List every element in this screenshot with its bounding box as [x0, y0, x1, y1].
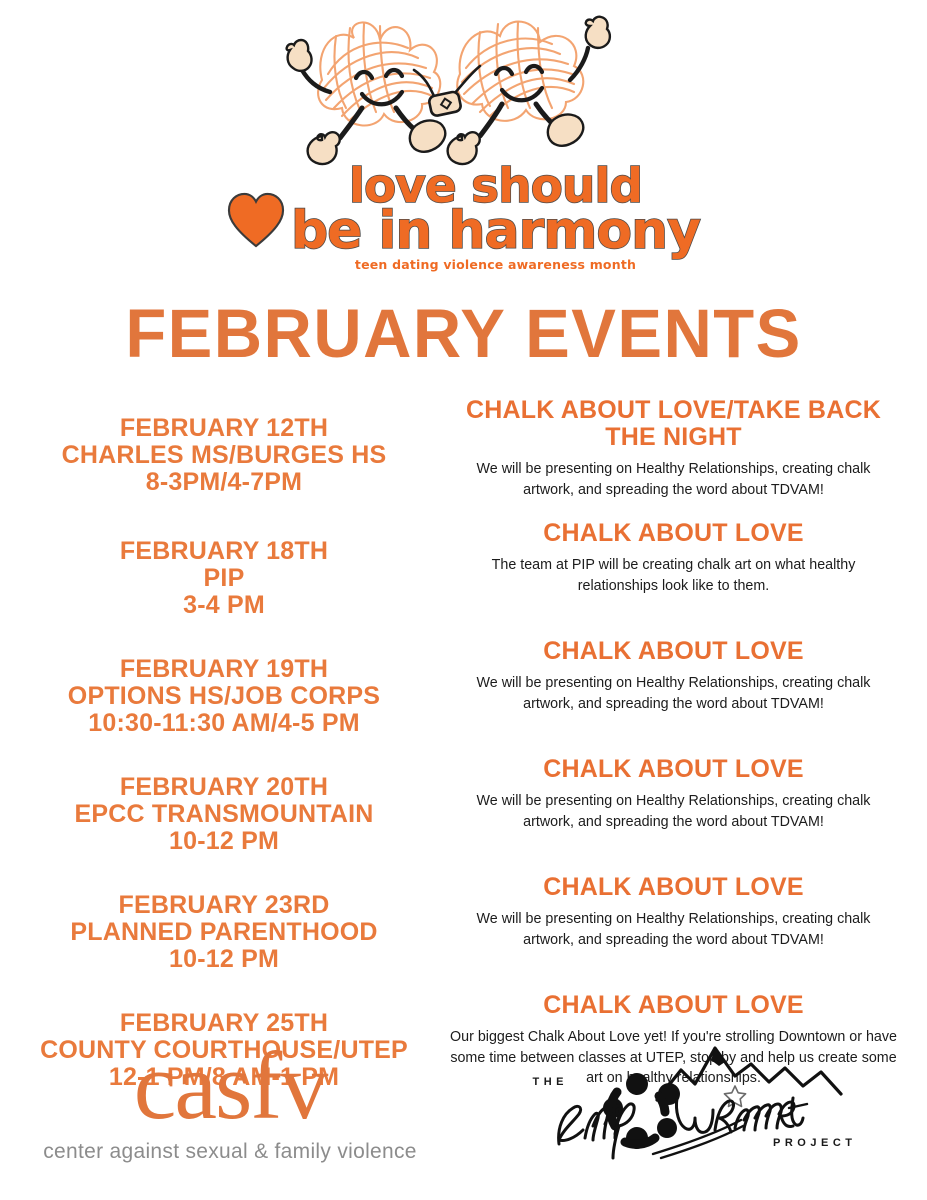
- logo-tagline: teen dating violence awareness month: [355, 257, 636, 272]
- casfv-tagline: center against sexual & family violence: [43, 1140, 417, 1164]
- event-description: We will be presenting on Healthy Relatio…: [440, 673, 907, 714]
- event-row: FEBRUARY 23RD PLANNED PARENTHOOD 10-12 P…: [14, 874, 913, 973]
- event-place: PIP: [14, 565, 434, 592]
- event-date: FEBRUARY 19TH: [14, 656, 434, 683]
- event-time: 3-4 PM: [14, 592, 434, 619]
- event-place: OPTIONS HS/JOB CORPS: [14, 683, 434, 710]
- event-time: 10-12 PM: [14, 946, 434, 973]
- page-title: FEBRUARY EVENTS: [14, 294, 913, 373]
- event-date: FEBRUARY 20TH: [14, 774, 434, 801]
- events-list: FEBRUARY 12TH CHARLES MS/BURGES HS 8-3PM…: [0, 397, 927, 1090]
- event-description: We will be presenting on Healthy Relatio…: [440, 791, 907, 832]
- wordmark-line-2: be in harmony: [291, 208, 700, 256]
- empowerment-the-label: THE: [533, 1076, 569, 1088]
- event-details: CHALK ABOUT LOVE The team at PIP will be…: [434, 520, 913, 597]
- event-heading: CHALK ABOUT LOVE: [440, 756, 907, 783]
- event-heading: CHALK ABOUT LOVE: [440, 992, 907, 1019]
- event-schedule: FEBRUARY 18TH PIP 3-4 PM: [14, 520, 434, 619]
- event-heading: CHALK ABOUT LOVE: [440, 874, 907, 901]
- event-heading: CHALK ABOUT LOVE: [440, 638, 907, 665]
- event-schedule: FEBRUARY 12TH CHARLES MS/BURGES HS 8-3PM…: [14, 397, 434, 496]
- event-row: FEBRUARY 18TH PIP 3-4 PM CHALK ABOUT LOV…: [14, 520, 913, 619]
- event-row: FEBRUARY 12TH CHARLES MS/BURGES HS 8-3PM…: [14, 397, 913, 500]
- two-dancing-scribble-characters-icon: [284, 8, 644, 173]
- event-row: FEBRUARY 20TH EPCC TRANSMOUNTAIN 10-12 P…: [14, 756, 913, 855]
- event-date: FEBRUARY 12TH: [14, 415, 434, 442]
- event-details: CHALK ABOUT LOVE We will be presenting o…: [434, 756, 913, 833]
- heart-icon: [227, 192, 285, 248]
- event-details: CHALK ABOUT LOVE/TAKE BACK THE NIGHT We …: [434, 397, 913, 500]
- event-heading: CHALK ABOUT LOVE/TAKE BACK THE NIGHT: [440, 397, 907, 450]
- event-time: 8-3PM/4-7PM: [14, 469, 434, 496]
- event-place: PLANNED PARENTHOOD: [14, 919, 434, 946]
- event-time: 10-12 PM: [14, 828, 434, 855]
- event-details: CHALK ABOUT LOVE We will be presenting o…: [434, 638, 913, 715]
- footer-logos: casfv center against sexual & family vio…: [0, 1032, 927, 1200]
- event-date: FEBRUARY 18TH: [14, 538, 434, 565]
- event-row: FEBRUARY 19TH OPTIONS HS/JOB CORPS 10:30…: [14, 638, 913, 737]
- event-schedule: FEBRUARY 20TH EPCC TRANSMOUNTAIN 10-12 P…: [14, 756, 434, 855]
- event-date: FEBRUARY 23RD: [14, 892, 434, 919]
- logo-wordmark: love should be in harmony teen dating vi…: [291, 165, 700, 272]
- event-description: We will be presenting on Healthy Relatio…: [440, 459, 907, 500]
- casfv-wordmark: casfv: [134, 1042, 327, 1130]
- event-details: CHALK ABOUT LOVE We will be presenting o…: [434, 874, 913, 951]
- empowerment-project-logo: THE PROJECT: [460, 1032, 927, 1167]
- event-place: CHARLES MS/BURGES HS: [14, 442, 434, 469]
- event-heading: CHALK ABOUT LOVE: [440, 520, 907, 547]
- event-schedule: FEBRUARY 23RD PLANNED PARENTHOOD 10-12 P…: [14, 874, 434, 973]
- casfv-logo: casfv center against sexual & family vio…: [0, 1032, 460, 1164]
- empowerment-project-label: PROJECT: [773, 1137, 856, 1149]
- event-schedule: FEBRUARY 19TH OPTIONS HS/JOB CORPS 10:30…: [14, 638, 434, 737]
- event-place: EPCC TRANSMOUNTAIN: [14, 801, 434, 828]
- event-time: 10:30-11:30 AM/4-5 PM: [14, 710, 434, 737]
- event-description: We will be presenting on Healthy Relatio…: [440, 909, 907, 950]
- tdvam-logo: love should be in harmony teen dating vi…: [0, 0, 927, 272]
- event-description: The team at PIP will be creating chalk a…: [440, 555, 907, 596]
